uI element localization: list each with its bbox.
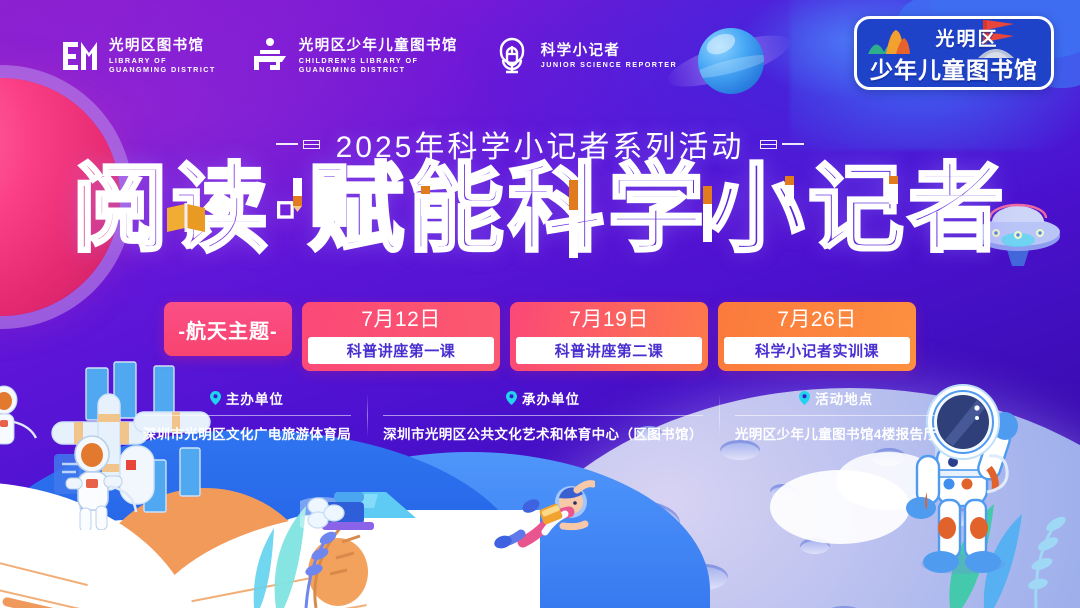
logo-cn-name: 光明区图书馆 bbox=[109, 39, 216, 54]
white-cloud-left-2 bbox=[60, 520, 190, 606]
foliage-right-icon bbox=[940, 486, 1080, 608]
open-book-m-logo-icon bbox=[60, 36, 100, 76]
logo-en-line1: CHILDREN'S LIBRARY OF bbox=[299, 57, 458, 64]
logo-en-line1: LIBRARY OF bbox=[109, 57, 216, 64]
badge-line-2: 少年儿童图书馆 bbox=[854, 51, 1054, 85]
flying-child-with-book-icon bbox=[485, 478, 595, 550]
library-badge: 光明区 少年儿童图书馆 bbox=[854, 16, 1054, 90]
schedule-card-1[interactable]: 7月12日 科普讲座第一课 bbox=[302, 302, 500, 371]
logo-cn-name: 光明区少年儿童图书馆 bbox=[299, 39, 458, 54]
blue-ringed-planet-icon bbox=[690, 22, 768, 100]
logo-guangming-library: 光明区图书馆 LIBRARY OF GUANGMING DISTRICT bbox=[60, 36, 216, 76]
theme-tag: -航天主题- bbox=[164, 302, 292, 356]
ornament-right-icon bbox=[760, 140, 804, 149]
schedule-card-3[interactable]: 7月26日 科学小记者实训课 bbox=[718, 302, 916, 371]
page-title: 阅读·赋能科学小记者 bbox=[0, 162, 1080, 258]
book-base-shadow bbox=[0, 556, 260, 608]
logo-en-line2: GUANGMING DISTRICT bbox=[109, 66, 216, 73]
logo-childrens-library: 光明区少年儿童图书馆 CHILDREN'S LIBRARY OF GUANGMI… bbox=[250, 36, 458, 76]
space-station-icon bbox=[0, 360, 224, 530]
info-divider bbox=[383, 415, 703, 416]
info-column-organizer: 主办单位 深圳市光明区文化广电旅游体育局 bbox=[127, 388, 368, 443]
schedule-card-date: 7月26日 bbox=[724, 307, 910, 333]
info-value: 深圳市光明区公共文化艺术和体育中心（区图书馆） bbox=[383, 423, 703, 443]
info-heading: 活动地点 bbox=[735, 388, 938, 408]
blue-hill-back bbox=[230, 452, 710, 608]
info-divider bbox=[143, 415, 352, 416]
schedule-card-session: 科普讲座第一课 bbox=[308, 337, 494, 364]
info-value: 光明区少年儿童图书馆4楼报告厅 bbox=[735, 423, 938, 443]
foliage-left-icon bbox=[250, 500, 370, 608]
schedule-cards: -航天主题- 7月12日 科普讲座第一课 7月19日 科普讲座第二课 7月26日… bbox=[0, 302, 1080, 371]
info-heading: 承办单位 bbox=[383, 388, 703, 408]
location-pin-icon bbox=[799, 391, 810, 405]
white-cloud-right-2 bbox=[836, 452, 940, 510]
badge-line-1: 光明区 bbox=[854, 24, 1054, 51]
partner-logos: 光明区图书馆 LIBRARY OF GUANGMING DISTRICT 光明区… bbox=[60, 36, 677, 76]
white-cloud-left bbox=[150, 505, 300, 597]
location-pin-icon bbox=[210, 391, 221, 405]
logo-junior-science-reporter: 科学小记者 JUNIOR SCIENCE REPORTER bbox=[492, 36, 677, 76]
ornament-left-icon bbox=[276, 140, 320, 149]
white-cloud-right bbox=[770, 470, 910, 544]
blue-hill-front bbox=[0, 430, 530, 608]
schedule-card-date: 7月12日 bbox=[308, 307, 494, 333]
child-reading-logo-icon bbox=[250, 36, 290, 76]
schedule-card-session: 科普讲座第二课 bbox=[516, 337, 702, 364]
location-pin-icon bbox=[506, 391, 517, 405]
info-label: 主办单位 bbox=[226, 388, 284, 408]
info-divider bbox=[735, 415, 938, 416]
info-label: 承办单位 bbox=[522, 388, 580, 408]
open-book-icon bbox=[0, 470, 500, 608]
space-shuttle-icon bbox=[300, 478, 420, 544]
info-column-venue: 活动地点 光明区少年儿童图书馆4楼报告厅 bbox=[719, 388, 954, 443]
moon-edge-glow bbox=[430, 470, 620, 608]
microphone-logo-icon bbox=[492, 36, 532, 76]
schedule-card-date: 7月19日 bbox=[516, 307, 702, 333]
schedule-card-2[interactable]: 7月19日 科普讲座第二课 bbox=[510, 302, 708, 371]
organizer-info-row: 主办单位 深圳市光明区文化广电旅游体育局 承办单位 深圳市光明区公共文化艺术和体… bbox=[0, 388, 1080, 443]
info-column-coorganizer: 承办单位 深圳市光明区公共文化艺术和体育中心（区图书馆） bbox=[367, 388, 719, 443]
info-value: 深圳市光明区文化广电旅游体育局 bbox=[143, 423, 352, 443]
poster-canvas: 光明区图书馆 LIBRARY OF GUANGMING DISTRICT 光明区… bbox=[0, 0, 1080, 608]
logo-cn-name: 科学小记者 bbox=[541, 44, 677, 59]
white-cloud-mid bbox=[266, 515, 362, 571]
info-heading: 主办单位 bbox=[143, 388, 352, 408]
info-label: 活动地点 bbox=[815, 388, 873, 408]
logo-en-line2: GUANGMING DISTRICT bbox=[299, 66, 458, 73]
logo-en-line1: JUNIOR SCIENCE REPORTER bbox=[541, 61, 677, 68]
schedule-card-session: 科学小记者实训课 bbox=[724, 337, 910, 364]
